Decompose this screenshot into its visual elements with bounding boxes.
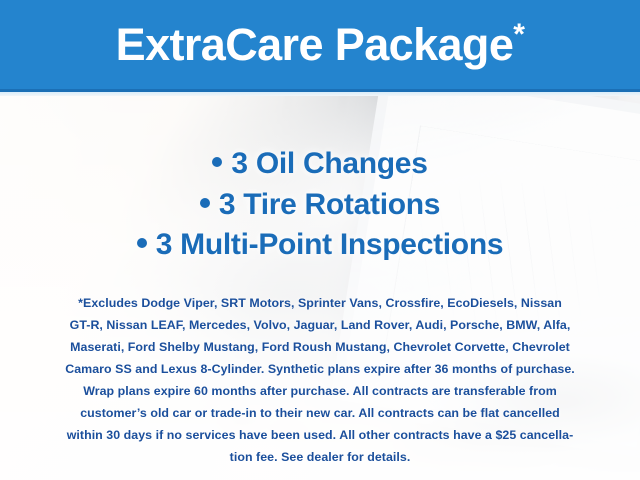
disclaimer-line: GT-R, Nissan LEAF, Mercedes, Volvo, Jagu…	[37, 314, 603, 336]
benefits-list: 3 Oil Changes 3 Tire Rotations 3 Multi-P…	[0, 96, 640, 266]
benefit-item-tire-rotations: 3 Tire Rotations	[24, 185, 616, 226]
page-title: ExtraCare Package*	[116, 22, 525, 67]
bullet-dot-icon	[212, 157, 222, 167]
bullet-dot-icon	[200, 198, 210, 208]
benefit-item-multi-point-inspections: 3 Multi-Point Inspections	[24, 225, 616, 266]
disclaimer-line: Maserati, Ford Shelby Mustang, Ford Rous…	[37, 336, 603, 358]
banner-underline	[0, 92, 640, 96]
disclaimer-text: *Excludes Dodge Viper, SRT Motors, Sprin…	[37, 292, 603, 469]
disclaimer-line: *Excludes Dodge Viper, SRT Motors, Sprin…	[37, 292, 603, 314]
benefit-label: 3 Oil Changes	[231, 147, 427, 180]
disclaimer-line: tion fee. See dealer for details.	[37, 446, 603, 468]
disclaimer-line: customer’s old car or trade-in to their …	[37, 402, 603, 424]
benefit-item-oil-changes: 3 Oil Changes	[24, 144, 616, 185]
extracare-package-promo-card: ExtraCare Package* 3 Oil Changes 3 Tire …	[0, 0, 640, 480]
main-content: 3 Oil Changes 3 Tire Rotations 3 Multi-P…	[0, 96, 640, 480]
disclaimer-line: within 30 days if no services have been …	[37, 424, 603, 446]
benefit-label: 3 Multi-Point Inspections	[156, 228, 504, 261]
page-title-text: ExtraCare Package	[116, 19, 514, 70]
disclaimer-line: Wrap plans expire 60 months after purcha…	[37, 380, 603, 402]
header-banner: ExtraCare Package*	[0, 0, 640, 92]
disclaimer-line: Camaro SS and Lexus 8-Cylinder. Syntheti…	[37, 358, 603, 380]
page-title-asterisk: *	[513, 18, 524, 51]
bullet-dot-icon	[137, 238, 147, 248]
benefit-label: 3 Tire Rotations	[219, 188, 440, 221]
